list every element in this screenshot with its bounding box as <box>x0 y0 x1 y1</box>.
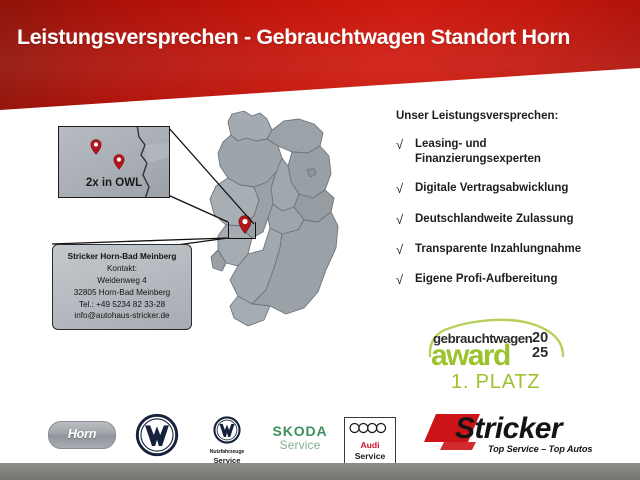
skoda-wordmark: SKODA <box>265 424 335 439</box>
check-icon: √ <box>396 242 415 258</box>
award-badge: gebrauchtwagen award 20 25 1. PLATZ <box>424 312 569 398</box>
list-item-label: Digitale Vertragsabwicklung <box>415 181 568 196</box>
volkswagen-nutzfahrzeuge-icon <box>213 416 241 444</box>
vw-nutzfahrzeuge-label: Nutzfahrzeuge <box>194 449 260 456</box>
dealer-name: Stricker Horn-Bad Meinberg <box>58 251 186 263</box>
stricker-wordmark: Stricker <box>455 414 562 444</box>
list-item-label: Transparente Inzahlungnahme <box>415 242 581 257</box>
map-pin-icon <box>238 215 252 234</box>
skoda-service-label: Service <box>265 439 335 452</box>
list-item-label: Eigene Profi-Aufbereitung <box>415 272 557 287</box>
page-title: Leistungsversprechen - Gebrauchtwagen St… <box>17 25 570 50</box>
audi-service-label: Service <box>347 451 393 462</box>
stricker-tagline: Top Service – Top Autos <box>488 444 592 454</box>
check-icon: √ <box>396 272 415 288</box>
address-line-phone: Tel.: +49 5234 82 33-28 <box>58 299 186 311</box>
brand-logo-strip: Horn Nutzfahrzeuge Service SKODA Service <box>0 408 420 460</box>
brand-logo-audi: Audi Service <box>344 417 396 464</box>
list-item: √ Digitale Vertragsabwicklung <box>396 181 631 197</box>
award-word-text: award <box>431 341 510 371</box>
brand-horn-label: Horn <box>49 422 115 447</box>
list-item-label: Leasing- und Finanzierungsexperten <box>415 137 541 167</box>
award-year: 20 25 <box>532 331 556 361</box>
dealer-address-box: Stricker Horn-Bad Meinberg Kontakt: Weid… <box>52 244 192 330</box>
inset-map-pin-icon-1 <box>90 139 102 155</box>
germany-map <box>168 108 378 408</box>
inset-map-pin-icon-2 <box>113 154 125 170</box>
stricker-logo: Stricker Top Service – Top Autos <box>424 408 600 458</box>
header-banner <box>0 0 640 118</box>
award-year-top: 20 <box>532 330 548 346</box>
footer-bar <box>0 463 640 480</box>
address-line-email: info@autohaus-stricker.de <box>58 310 186 322</box>
check-icon: √ <box>396 181 415 197</box>
owl-callout-inset: 2x in OWL <box>58 126 170 198</box>
audi-wordmark: Audi <box>347 440 393 451</box>
slide-canvas: Leistungsversprechen - Gebrauchtwagen St… <box>0 0 640 480</box>
audi-logo-box: Audi Service <box>344 417 396 464</box>
list-item: √ Transparente Inzahlungnahme <box>396 242 631 258</box>
brand-logo-horn: Horn <box>48 421 116 449</box>
owl-inset-label: 2x in OWL <box>59 177 169 189</box>
check-icon: √ <box>396 137 415 153</box>
brand-logo-vw-nutzfahrzeuge: Nutzfahrzeuge Service <box>194 416 260 466</box>
list-item-label: Deutschlandweite Zulassung <box>415 212 573 227</box>
award-rank-text: 1. PLATZ <box>451 371 540 394</box>
brand-logo-volkswagen <box>133 413 181 462</box>
address-line-contact: Kontakt: <box>58 263 186 275</box>
audi-rings-icon <box>348 422 392 434</box>
list-item: √ Deutschlandweite Zulassung <box>396 212 631 228</box>
address-line-city: 32805 Horn-Bad Meinberg <box>58 287 186 299</box>
check-icon: √ <box>396 212 415 228</box>
list-item: √ Leasing- und Finanzierungsexperten <box>396 137 631 167</box>
service-promise-heading: Unser Leistungsversprechen: <box>396 110 631 122</box>
brand-logo-skoda: SKODA Service <box>265 424 335 452</box>
address-line-street: Weidenweg 4 <box>58 275 186 287</box>
service-promise-list: Unser Leistungsversprechen: √ Leasing- u… <box>396 110 631 302</box>
list-item: √ Eigene Profi-Aufbereitung <box>396 272 631 288</box>
volkswagen-icon <box>135 413 179 457</box>
award-year-bottom: 25 <box>532 345 548 361</box>
